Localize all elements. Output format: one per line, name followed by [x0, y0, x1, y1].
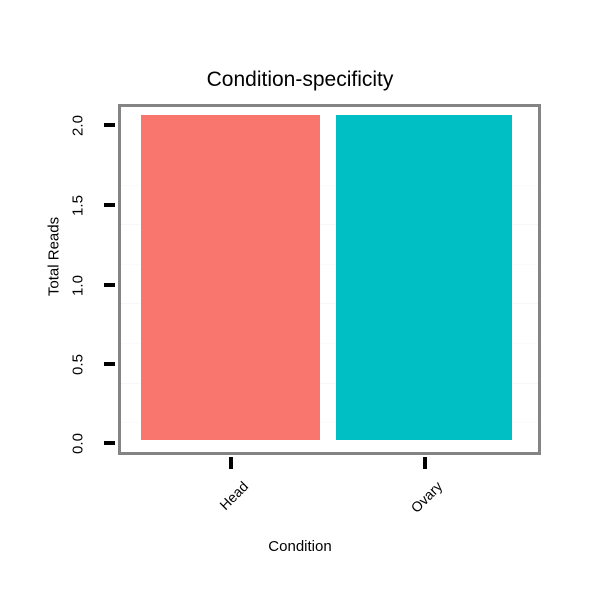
x-tick-mark-ovary — [423, 457, 427, 469]
x-tick-mark-head — [229, 457, 233, 469]
y-tick-mark-1.0 — [104, 283, 115, 287]
plot-panel — [118, 104, 541, 455]
y-axis-title: Total Reads — [46, 197, 63, 317]
x-tick-label-ovary: Ovary — [392, 478, 446, 532]
chart-title: Condition-specificity — [0, 68, 600, 92]
y-tick-label: 0.0 — [70, 422, 87, 466]
y-tick-mark-2.0 — [104, 123, 115, 127]
x-axis-title: Condition — [0, 538, 600, 555]
x-tick-label-head: Head — [198, 478, 252, 532]
y-tick-mark-0.0 — [104, 441, 115, 445]
plot-area — [121, 107, 538, 452]
y-tick-mark-0.5 — [104, 362, 115, 366]
y-tick-label: 2.0 — [70, 104, 87, 148]
bar-ovary[interactable] — [336, 115, 512, 440]
y-tick-label: 0.5 — [70, 343, 87, 387]
bar-head[interactable] — [141, 115, 320, 440]
y-tick-label: 1.0 — [70, 264, 87, 308]
y-tick-mark-1.5 — [104, 203, 115, 207]
chart-screenshot: Condition-specificity 2.0 1.5 1.0 0.5 0.… — [0, 0, 600, 600]
y-tick-label: 1.5 — [70, 184, 87, 228]
